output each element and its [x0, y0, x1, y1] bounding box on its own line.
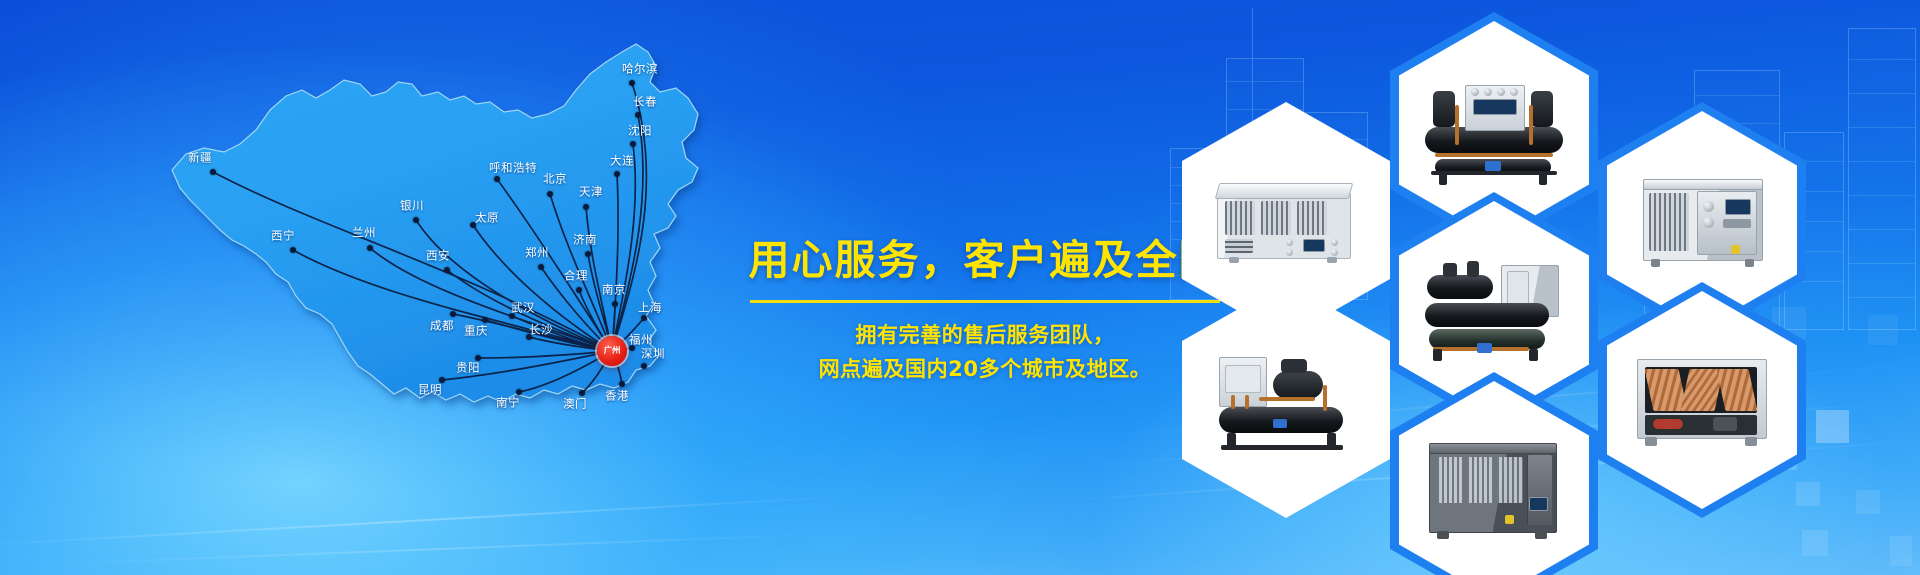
city-dot[interactable] [538, 264, 544, 270]
city-label: 长春 [633, 96, 657, 108]
product-hexagon-grid [1130, 0, 1920, 575]
city-dot[interactable] [635, 112, 641, 118]
city-dot[interactable] [612, 301, 618, 307]
city-label: 香港 [605, 390, 629, 402]
city-label: 西安 [426, 250, 450, 262]
city-dot[interactable] [482, 317, 488, 323]
city-label: 成都 [430, 320, 454, 332]
city-label: 银川 [400, 200, 424, 212]
city-label: 贵阳 [456, 362, 480, 374]
machine-screw-compressor-unit [1211, 345, 1361, 455]
city-label: 新疆 [188, 152, 212, 164]
city-dot[interactable] [367, 245, 373, 251]
machine-low-temp-cabinet-chiller [1419, 435, 1569, 545]
city-label: 哈尔滨 [622, 63, 658, 75]
city-label: 福州 [629, 334, 653, 346]
city-dot[interactable] [210, 169, 216, 175]
city-dot[interactable] [413, 217, 419, 223]
city-dot[interactable] [585, 251, 591, 257]
city-dot[interactable] [450, 311, 456, 317]
city-label: 郑州 [525, 247, 549, 259]
city-dot[interactable] [614, 171, 620, 177]
city-label: 南宁 [496, 397, 520, 409]
machine-air-cooled-box-chiller [1211, 165, 1361, 275]
service-network-banner: 新疆西宁兰州银川西安太原呼和浩特北京天津大连沈阳长春哈尔滨济南郑州合理南京上海武… [0, 0, 1920, 575]
city-label: 昆明 [418, 384, 442, 396]
city-label: 武汉 [511, 302, 535, 314]
city-dot[interactable] [629, 80, 635, 86]
product-hex-low-temp-cabinet-chiller[interactable] [1390, 372, 1598, 575]
city-label: 南京 [602, 284, 626, 296]
city-label: 沈阳 [628, 125, 652, 137]
product-hex-screw-compressor-unit[interactable] [1182, 282, 1390, 518]
city-dot[interactable] [516, 389, 522, 395]
hub-marker-guangzhou[interactable]: 广州 [597, 336, 627, 366]
hub-label: 广州 [604, 347, 620, 356]
city-dot[interactable] [641, 363, 647, 369]
city-label: 合理 [564, 270, 588, 282]
city-label: 大连 [610, 155, 634, 167]
city-label: 呼和浩特 [489, 162, 537, 174]
city-dot[interactable] [583, 204, 589, 210]
city-dot[interactable] [576, 287, 582, 293]
city-dot[interactable] [641, 315, 647, 321]
city-label: 上海 [638, 302, 662, 314]
city-label: 兰州 [352, 227, 376, 239]
city-dot[interactable] [494, 176, 500, 182]
city-dot[interactable] [579, 390, 585, 396]
city-dot[interactable] [619, 381, 625, 387]
city-label: 天津 [579, 186, 603, 198]
city-label: 济南 [573, 234, 597, 246]
product-hex-condenser-coil-unit[interactable] [1598, 282, 1806, 518]
machine-open-type-water-chiller [1419, 255, 1569, 365]
machine-water-cooled-screw-chiller [1419, 75, 1569, 185]
city-label: 太原 [475, 212, 499, 224]
city-dot[interactable] [290, 247, 296, 253]
city-label: 长沙 [529, 324, 553, 336]
city-label: 深圳 [641, 348, 665, 360]
city-label: 西宁 [271, 230, 295, 242]
city-label: 重庆 [464, 325, 488, 337]
city-label: 澳门 [563, 398, 587, 410]
china-service-map: 新疆西宁兰州银川西安太原呼和浩特北京天津大连沈阳长春哈尔滨济南郑州合理南京上海武… [120, 18, 760, 448]
city-dot[interactable] [630, 141, 636, 147]
machine-condenser-coil-unit [1627, 345, 1777, 455]
city-label: 北京 [543, 173, 567, 185]
city-dot[interactable] [444, 267, 450, 273]
city-dot[interactable] [547, 191, 553, 197]
machine-air-cooled-industrial-chiller [1627, 165, 1777, 275]
